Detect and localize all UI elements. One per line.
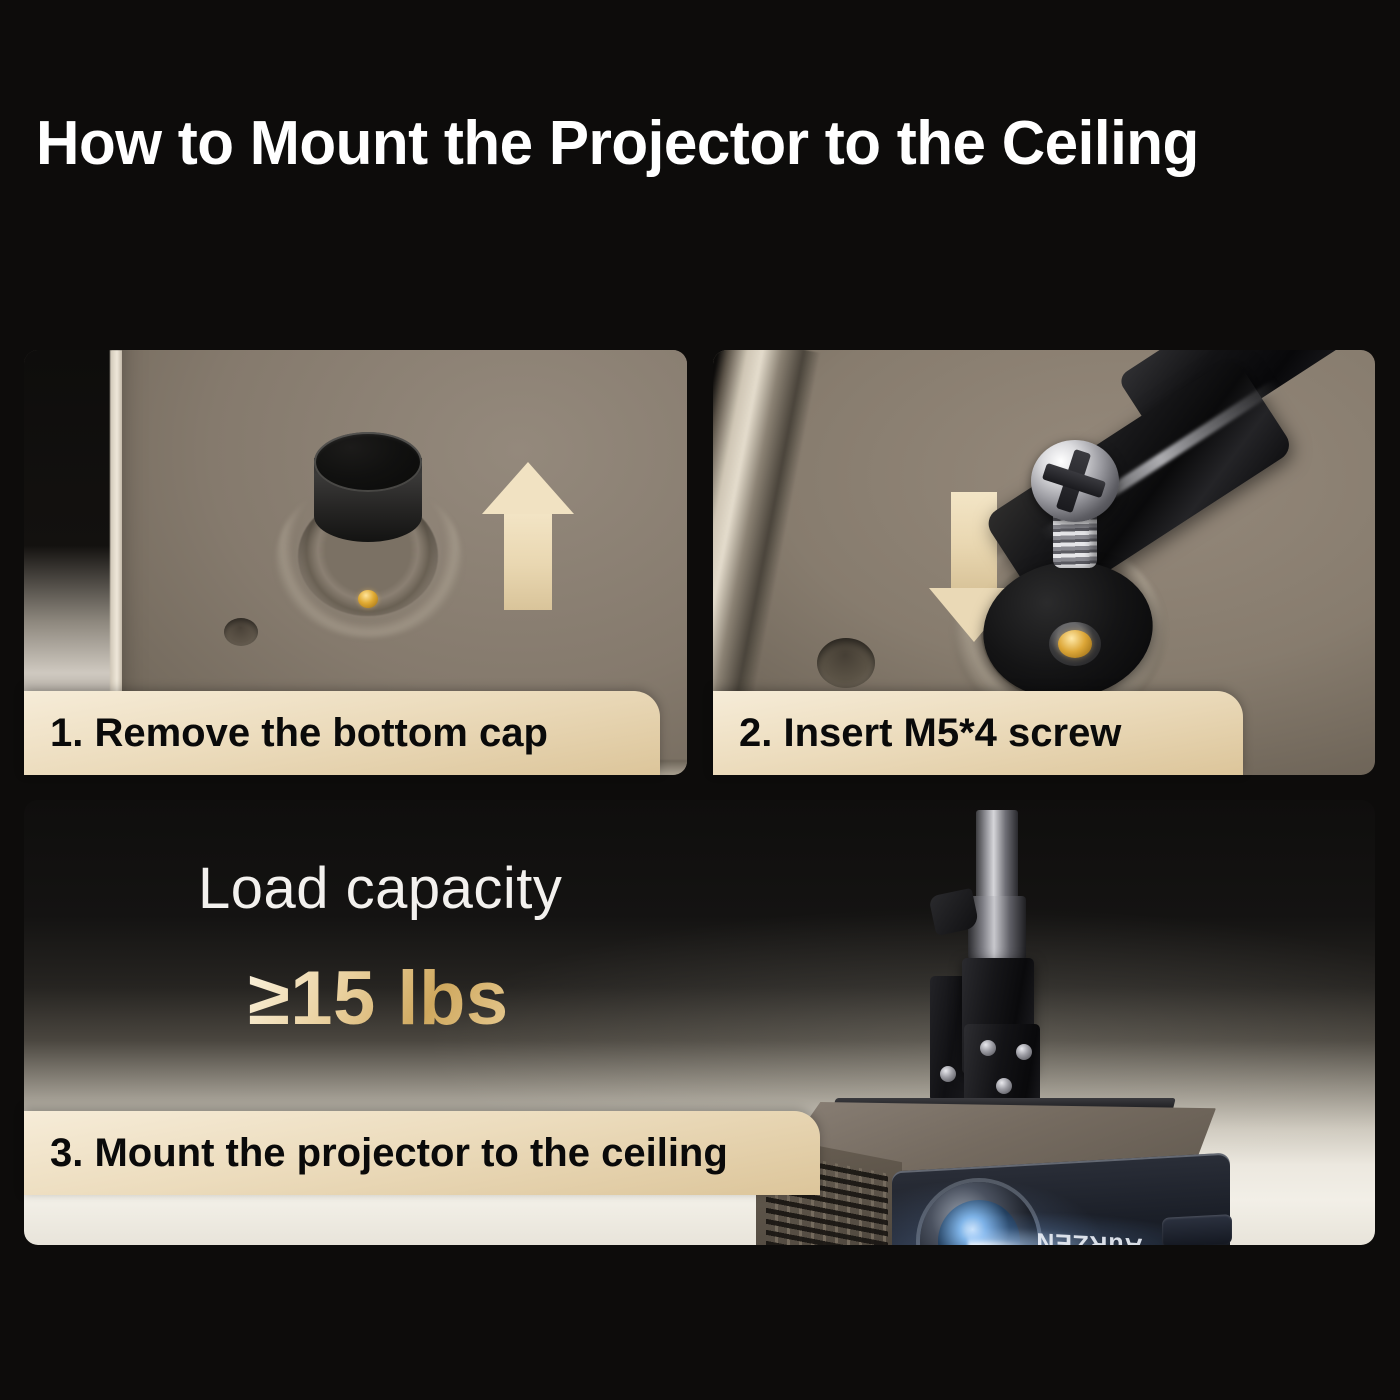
infographic-page: How to Mount the Projector to the Ceilin… xyxy=(0,0,1400,1400)
ir-sensor-window xyxy=(1162,1214,1232,1245)
step-3-label-badge: 3. Mount the projector to the ceiling xyxy=(24,1111,820,1195)
down-arrow-icon xyxy=(951,492,997,588)
up-arrow-icon xyxy=(504,510,552,610)
bracket-bolt xyxy=(940,1066,956,1082)
step-1-label-badge: 1. Remove the bottom cap xyxy=(24,691,660,775)
bracket-screw-hole xyxy=(1049,622,1101,666)
bottom-cap-rim xyxy=(314,432,422,492)
bracket-bolt xyxy=(980,1040,996,1056)
alignment-hole xyxy=(817,638,875,688)
page-title: How to Mount the Projector to the Ceilin… xyxy=(36,108,1336,179)
gold-thread-insert xyxy=(358,590,378,608)
ceiling-pole xyxy=(976,810,1018,910)
load-capacity-label: Load capacity xyxy=(198,855,562,922)
bracket-bolt xyxy=(1016,1044,1032,1060)
ceiling-pole-collar xyxy=(968,896,1026,960)
step-2-label-badge: 2. Insert M5*4 screw xyxy=(713,691,1243,775)
bracket-bolt xyxy=(996,1078,1012,1094)
alignment-hole xyxy=(224,618,258,646)
load-capacity-value: ≥15 lbs xyxy=(248,955,509,1042)
